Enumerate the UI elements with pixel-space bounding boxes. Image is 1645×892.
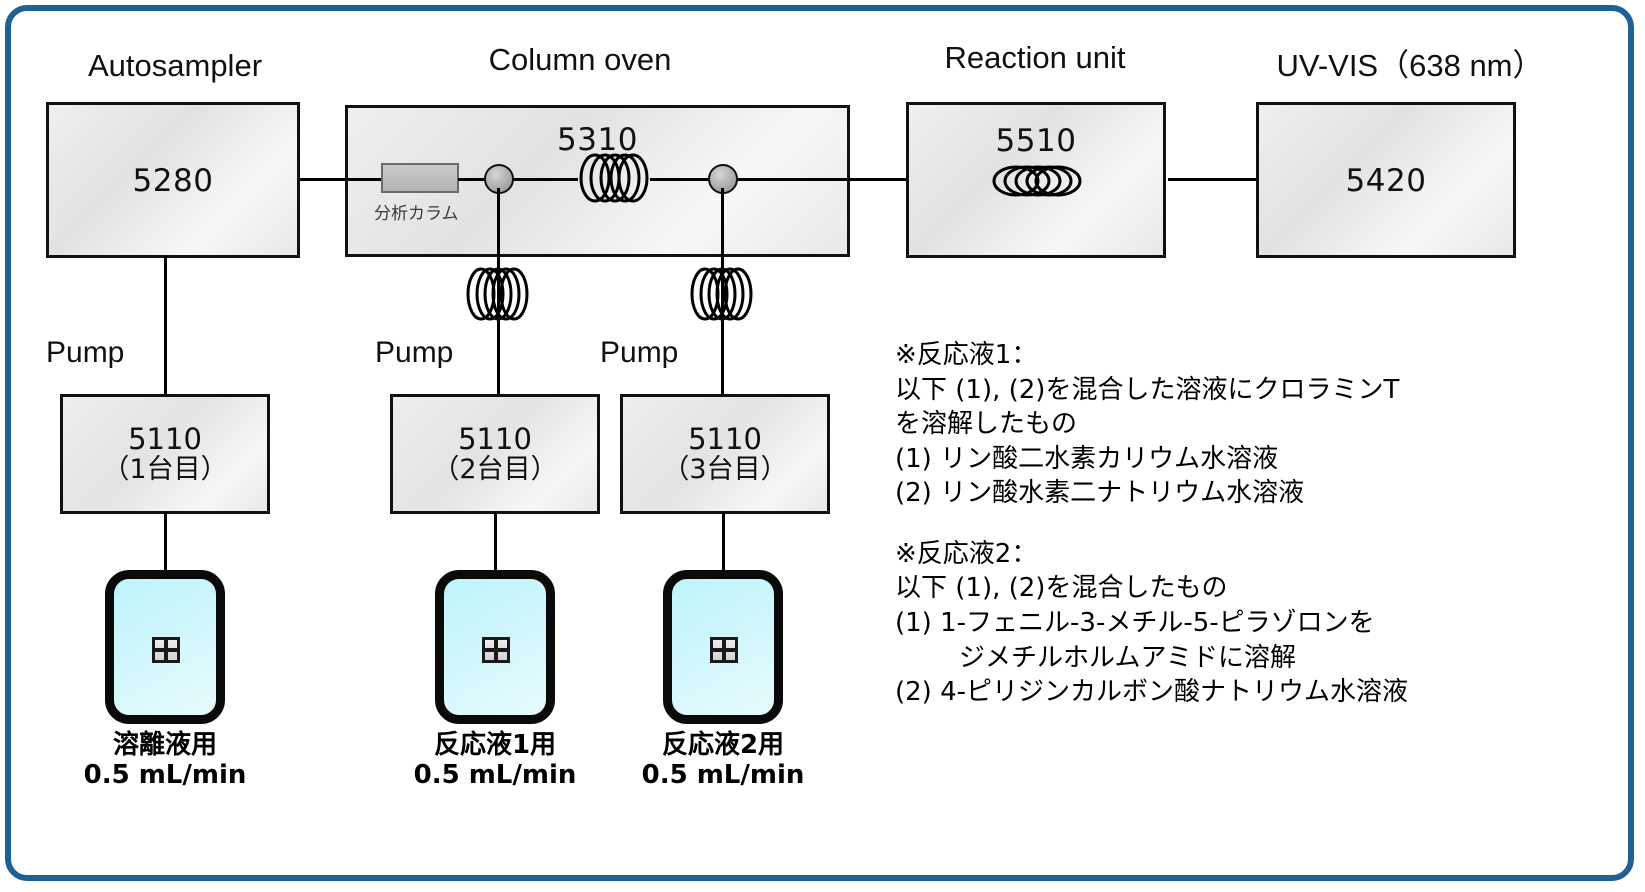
reservoir-reagent-2-rate: 0.5 mL/min xyxy=(593,760,853,790)
pump-1-model: 5110 xyxy=(128,424,202,455)
analytical-column-label: 分析カラム xyxy=(374,199,459,224)
reservoir-reagent-1-rate: 0.5 mL/min xyxy=(365,760,625,790)
reaction-coil-3-icon xyxy=(687,266,757,322)
note-reagent-1-line-2: を溶解したもの xyxy=(895,407,1595,442)
oven-line-coil-to-tee2 xyxy=(650,178,712,181)
reaction-unit-coil-icon xyxy=(990,160,1086,202)
note-reagent-1-line-1: 以下 (1), (2)を混合した溶液にクロラミンT xyxy=(895,373,1595,408)
pump-3-title: Pump xyxy=(600,336,678,370)
reservoir-eluent-rate: 0.5 mL/min xyxy=(35,760,295,790)
analytical-column[interactable] xyxy=(381,163,459,193)
reservoir-reagent-1-frit-icon xyxy=(482,637,510,663)
pump-1[interactable]: 5110 （1台目） xyxy=(60,394,270,514)
line-autosampler-to-pump1 xyxy=(164,256,167,396)
unit-reaction-unit-model: 5510 xyxy=(909,123,1163,159)
oven-line-tee1-to-coil xyxy=(513,178,578,181)
flow-line-oven-to-reaction xyxy=(848,178,910,181)
pump-2-title: Pump xyxy=(375,336,453,370)
reservoir-reagent-2-caption: 反応液2用 0.5 mL/min xyxy=(593,730,853,790)
note-reagent-1-line-4: (2) リン酸水素二ナトリウム水溶液 xyxy=(895,476,1595,511)
unit-uv-vis-model: 5420 xyxy=(1259,163,1513,199)
unit-autosampler-model: 5280 xyxy=(49,163,297,199)
note-reagent-2-heading: ※反応液2： xyxy=(895,537,1595,572)
reservoir-reagent-2-name: 反応液2用 xyxy=(593,730,853,760)
notes-panel: ※反応液1： 以下 (1), (2)を混合した溶液にクロラミンT を溶解したもの… xyxy=(895,338,1595,736)
oven-inlet-line xyxy=(348,178,384,181)
unit-autosampler[interactable]: 5280 xyxy=(46,102,300,258)
reaction-coil-2-icon xyxy=(463,266,533,322)
pump-3[interactable]: 5110 （3台目） xyxy=(620,394,830,514)
note-reagent-1-heading: ※反応液1： xyxy=(895,338,1595,373)
reaction-coil-1-icon xyxy=(575,152,653,204)
pump-2-model: 5110 xyxy=(458,424,532,455)
note-reagent-1-line-3: (1) リン酸二水素カリウム水溶液 xyxy=(895,442,1595,477)
note-reagent-2: ※反応液2： 以下 (1), (2)を混合したもの (1) 1-フェニル-3-メ… xyxy=(895,537,1595,710)
note-reagent-2-line-3: ジメチルホルムアミドに溶解 xyxy=(895,641,1595,676)
title-uv-vis: UV-VIS（638 nm） xyxy=(1215,40,1605,85)
pump-3-model: 5110 xyxy=(688,424,762,455)
note-reagent-2-line-1: 以下 (1), (2)を混合したもの xyxy=(895,571,1595,606)
diagram-canvas: Autosampler Column oven Reaction unit UV… xyxy=(0,0,1645,892)
pump-3-index: （3台目） xyxy=(662,455,787,484)
note-reagent-1: ※反応液1： 以下 (1), (2)を混合した溶液にクロラミンT を溶解したもの… xyxy=(895,338,1595,511)
reservoir-reagent-1-name: 反応液1用 xyxy=(365,730,625,760)
pump-2-index: （2台目） xyxy=(432,455,557,484)
note-reagent-2-line-4: (2) 4-ピリジンカルボン酸ナトリウム水溶液 xyxy=(895,675,1595,710)
reservoir-eluent-frit-icon xyxy=(152,637,180,663)
title-reaction-unit: Reaction unit xyxy=(905,40,1165,76)
flow-line-reaction-to-uv xyxy=(1168,178,1258,181)
pump-2[interactable]: 5110 （2台目） xyxy=(390,394,600,514)
pump-1-index: （1台目） xyxy=(102,455,227,484)
note-reagent-2-line-2: (1) 1-フェニル-3-メチル-5-ピラゾロンを xyxy=(895,606,1595,641)
unit-uv-vis[interactable]: 5420 xyxy=(1256,102,1516,258)
reservoir-reagent-1-caption: 反応液1用 0.5 mL/min xyxy=(365,730,625,790)
reservoir-eluent-name: 溶離液用 xyxy=(35,730,295,760)
reservoir-reagent-2-frit-icon xyxy=(710,637,738,663)
pump-1-title: Pump xyxy=(46,336,124,370)
oven-outlet-line xyxy=(737,178,849,181)
title-autosampler: Autosampler xyxy=(50,48,300,84)
title-column-oven: Column oven xyxy=(420,42,740,78)
reservoir-eluent-caption: 溶離液用 0.5 mL/min xyxy=(35,730,295,790)
